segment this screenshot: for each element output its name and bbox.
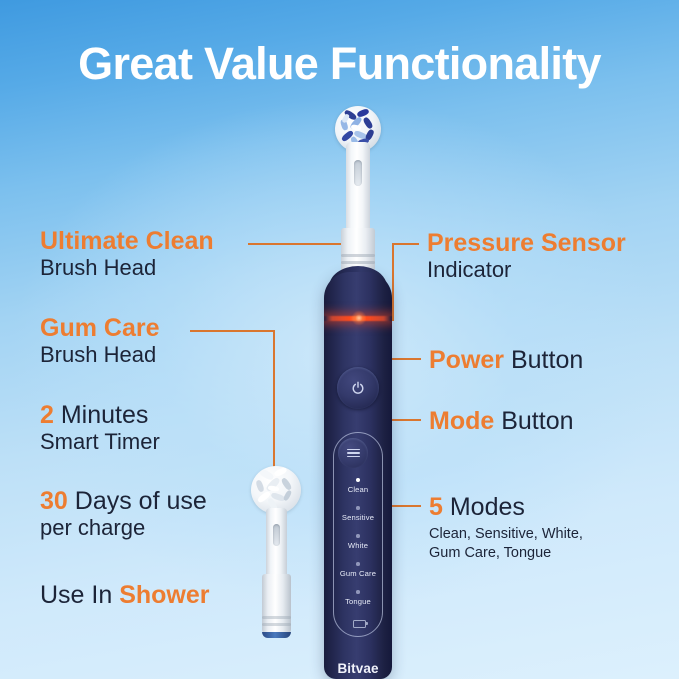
callout-mode-button-highlight: Mode bbox=[429, 407, 494, 435]
callout-pressure-sensor: Pressure Sensor Indicator bbox=[427, 229, 626, 283]
callout-smart-timer: 2 Minutes Smart Timer bbox=[40, 401, 160, 455]
mode-item-tongue[interactable]: Tongue bbox=[324, 590, 392, 606]
mode-item-clean[interactable]: Clean bbox=[324, 478, 392, 494]
gum-care-slot bbox=[273, 524, 280, 546]
callout-battery-life-number: 30 bbox=[40, 487, 68, 515]
brush-head-ring-2 bbox=[341, 261, 375, 264]
mode-item-gum-care[interactable]: Gum Care bbox=[324, 562, 392, 578]
callout-gum-care-title: Gum Care bbox=[40, 314, 159, 342]
callout-smart-timer-sub: Smart Timer bbox=[40, 430, 160, 455]
brand-logo: Bitvae bbox=[324, 661, 392, 676]
mode-item-sensitive[interactable]: Sensitive bbox=[324, 506, 392, 522]
callout-mode-button-word: Button bbox=[494, 407, 573, 435]
mode-indicator-dot-tongue bbox=[356, 590, 360, 594]
product-infographic: Great Value Functionality Ultimate Clean… bbox=[0, 0, 679, 679]
mode-item-white[interactable]: White bbox=[324, 534, 392, 550]
power-button[interactable] bbox=[337, 367, 379, 409]
callout-ultimate-clean-title: Ultimate Clean bbox=[40, 227, 214, 255]
gum-care-connector-ring bbox=[262, 632, 291, 638]
connector-gum-care-vertical bbox=[273, 330, 275, 470]
callout-battery-life-unit: Days of use bbox=[68, 487, 207, 515]
callout-use-in-shower: Use In Shower bbox=[40, 581, 210, 609]
callout-gum-care-sub: Brush Head bbox=[40, 343, 159, 368]
battery-icon bbox=[353, 620, 366, 628]
callout-power-button-word: Button bbox=[504, 346, 583, 374]
callout-five-modes-number: 5 bbox=[429, 493, 443, 521]
gum-care-ring-2 bbox=[262, 623, 291, 626]
callout-power-button-title: Power Button bbox=[429, 346, 583, 374]
mode-indicator-dot-white bbox=[356, 534, 360, 538]
callout-power-button-highlight: Power bbox=[429, 346, 504, 374]
brush-head-slot bbox=[354, 160, 362, 186]
mode-indicator-dot-gum-care bbox=[356, 562, 360, 566]
power-icon bbox=[351, 381, 365, 395]
callout-use-in-shower-prefix: Use In bbox=[40, 581, 119, 609]
callout-battery-life-title: 30 Days of use bbox=[40, 487, 207, 515]
mode-label-sensitive: Sensitive bbox=[324, 513, 392, 522]
callout-smart-timer-title: 2 Minutes bbox=[40, 401, 160, 429]
menu-lines-icon bbox=[347, 449, 360, 458]
gum-care-ring-1 bbox=[262, 616, 291, 619]
mode-label-tongue: Tongue bbox=[324, 597, 392, 606]
callout-smart-timer-number: 2 bbox=[40, 401, 54, 429]
mode-label-clean: Clean bbox=[324, 485, 392, 494]
brush-head-ring-1 bbox=[341, 254, 375, 257]
callout-pressure-sensor-sub: Indicator bbox=[427, 258, 626, 283]
mode-button[interactable] bbox=[338, 438, 368, 468]
callout-five-modes-list: Clean, Sensitive, White, Gum Care, Tongu… bbox=[429, 525, 583, 564]
callout-battery-life-sub: per charge bbox=[40, 516, 207, 541]
callout-five-modes-word: Modes bbox=[443, 493, 525, 521]
callout-power-button: Power Button bbox=[429, 346, 583, 374]
callout-use-in-shower-title: Use In Shower bbox=[40, 581, 210, 609]
callout-five-modes-title: 5 Modes bbox=[429, 493, 583, 521]
callout-mode-button-title: Mode Button bbox=[429, 407, 574, 435]
connector-gum-care-horizontal bbox=[190, 330, 275, 332]
callout-smart-timer-unit: Minutes bbox=[54, 401, 148, 429]
callout-pressure-sensor-title: Pressure Sensor bbox=[427, 229, 626, 257]
pressure-sensor-spark-icon bbox=[352, 310, 366, 326]
toothbrush-handle: Clean Sensitive White Gum Care Tongue Bi… bbox=[324, 272, 392, 679]
callout-use-in-shower-highlight: Shower bbox=[119, 581, 209, 609]
gum-care-base bbox=[262, 574, 291, 636]
callout-gum-care: Gum Care Brush Head bbox=[40, 314, 159, 368]
mode-label-white: White bbox=[324, 541, 392, 550]
mode-indicator-dot-sensitive bbox=[356, 506, 360, 510]
callout-mode-button: Mode Button bbox=[429, 407, 574, 435]
callout-battery-life: 30 Days of use per charge bbox=[40, 487, 207, 541]
mode-indicator-dot-clean bbox=[356, 478, 360, 482]
gum-care-brush-head bbox=[243, 466, 323, 656]
callout-ultimate-clean: Ultimate Clean Brush Head bbox=[40, 227, 214, 281]
callout-ultimate-clean-sub: Brush Head bbox=[40, 256, 214, 281]
callout-five-modes: 5 Modes Clean, Sensitive, White, Gum Car… bbox=[429, 493, 583, 564]
gum-care-brush-head-bristles bbox=[251, 466, 301, 514]
page-title: Great Value Functionality bbox=[0, 38, 679, 90]
mode-label-gum-care: Gum Care bbox=[324, 569, 392, 578]
